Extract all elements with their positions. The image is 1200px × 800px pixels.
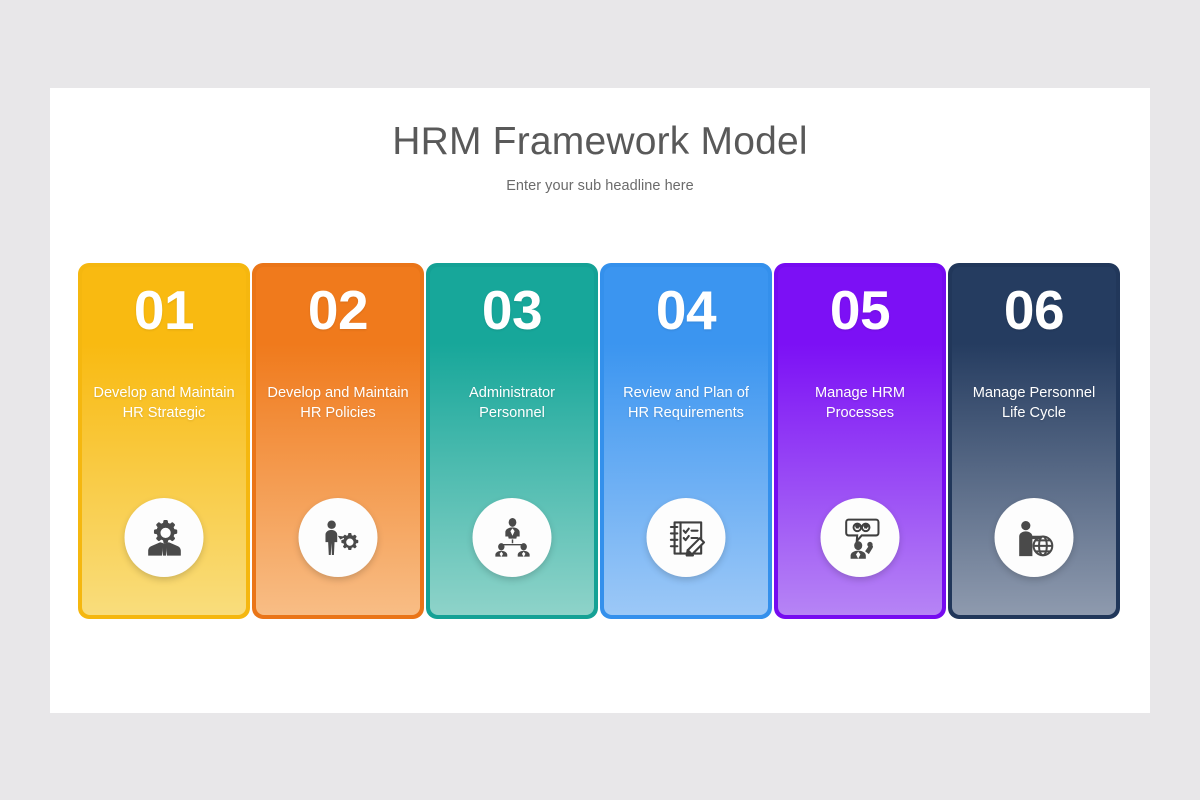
card-label: Develop and Maintain HR Strategic [90, 383, 238, 423]
gear-head-person-icon [142, 516, 186, 560]
card-body: 01 Develop and Maintain HR Strategic [82, 267, 246, 615]
card-label: Manage Personnel Life Cycle [960, 383, 1108, 423]
card-icon-circle[interactable] [821, 498, 900, 577]
framework-card-04[interactable]: 04 Review and Plan of HR Requirements [600, 263, 772, 619]
card-body: 06 Manage Personnel Life Cycle [952, 267, 1116, 615]
card-number: 05 [778, 283, 942, 338]
card-label: Administrator Personnel [438, 383, 586, 423]
card-number: 02 [256, 283, 420, 338]
card-icon-circle[interactable] [647, 498, 726, 577]
slide-panel: HRM Framework Model Enter your sub headl… [50, 88, 1150, 713]
framework-card-02[interactable]: 02 Develop and Maintain HR Policies [252, 263, 424, 619]
person-globe-icon [1012, 516, 1056, 560]
card-body: 02 Develop and Maintain HR Policies [256, 267, 420, 615]
framework-card-06[interactable]: 06 Manage Personnel Life Cycle [948, 263, 1120, 619]
card-icon-circle[interactable] [473, 498, 552, 577]
card-body: 04 Review and Plan of HR Requirements [604, 267, 768, 615]
card-label: Develop and Maintain HR Policies [264, 383, 412, 423]
card-number: 04 [604, 283, 768, 338]
framework-card-01[interactable]: 01 Develop and Maintain HR Strategic [78, 263, 250, 619]
org-chart-people-icon [490, 516, 534, 560]
card-body: 03 Administrator Personnel [430, 267, 594, 615]
page-title: HRM Framework Model [50, 120, 1150, 165]
card-icon-circle[interactable] [125, 498, 204, 577]
card-number: 06 [952, 283, 1116, 338]
slide-header: HRM Framework Model Enter your sub headl… [50, 88, 1150, 194]
person-gear-icon [316, 516, 360, 560]
framework-card-05[interactable]: 05 Manage HRM Processes [774, 263, 946, 619]
card-label: Review and Plan of HR Requirements [612, 383, 760, 423]
card-icon-circle[interactable] [299, 498, 378, 577]
person-gears-speech-bubble-icon [838, 516, 882, 560]
framework-card-row: 01 Develop and Maintain HR Strategic [78, 263, 1122, 619]
card-number: 03 [430, 283, 594, 338]
page-subtitle: Enter your sub headline here [50, 178, 1150, 194]
checklist-notebook-pencil-icon [664, 516, 708, 560]
card-label: Manage HRM Processes [786, 383, 934, 423]
card-body: 05 Manage HRM Processes [778, 267, 942, 615]
card-icon-circle[interactable] [995, 498, 1074, 577]
card-number: 01 [82, 283, 246, 338]
framework-card-03[interactable]: 03 Administrator Personnel [426, 263, 598, 619]
